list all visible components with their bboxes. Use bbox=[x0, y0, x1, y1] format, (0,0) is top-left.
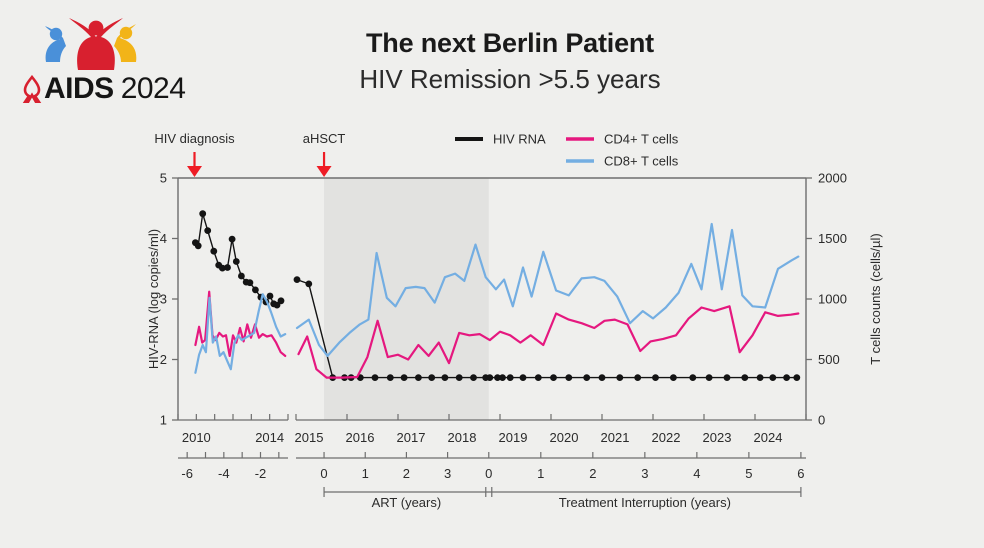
annotation-label: HIV diagnosis bbox=[154, 131, 235, 146]
series-point-hiv-rna bbox=[670, 374, 677, 381]
series-point-hiv-rna bbox=[652, 374, 659, 381]
series-point-hiv-rna bbox=[233, 258, 240, 265]
y-axis-right-tick-label: 2000 bbox=[818, 171, 847, 186]
x-axis-year-tick-label: 2015 bbox=[295, 430, 324, 445]
series-point-hiv-rna bbox=[229, 236, 236, 243]
series-point-hiv-rna bbox=[428, 374, 435, 381]
x-axis-year-tick-label: 2021 bbox=[601, 430, 630, 445]
y-axis-right-tick-label: 1000 bbox=[818, 292, 847, 307]
series-point-hiv-rna bbox=[470, 374, 477, 381]
down-arrow-icon bbox=[187, 166, 202, 177]
series-point-hiv-rna bbox=[689, 374, 696, 381]
annotation-label: aHSCT bbox=[303, 131, 346, 146]
x-axis-year-tick-label: 2010 bbox=[182, 430, 211, 445]
art-axis-tick-label: 3 bbox=[444, 466, 451, 481]
series-point-hiv-rna bbox=[278, 297, 285, 304]
y-axis-left-tick-label: 1 bbox=[160, 413, 167, 428]
interruption-axis-tick-label: 1 bbox=[537, 466, 544, 481]
x-axis-year-tick-label: 2023 bbox=[703, 430, 732, 445]
series-point-hiv-rna bbox=[267, 293, 274, 300]
series-point-hiv-rna bbox=[706, 374, 713, 381]
series-point-hiv-rna bbox=[401, 374, 408, 381]
series-point-hiv-rna bbox=[741, 374, 748, 381]
series-point-hiv-rna bbox=[520, 374, 527, 381]
series-point-hiv-rna bbox=[195, 242, 202, 249]
art-axis-tick-label: 0 bbox=[320, 466, 327, 481]
series-point-hiv-rna bbox=[634, 374, 641, 381]
series-point-hiv-rna bbox=[535, 374, 542, 381]
interruption-axis-tick-label: 6 bbox=[797, 466, 804, 481]
legend-label-cd4: CD4+ T cells bbox=[604, 132, 679, 147]
y-axis-right-title: T cells counts (cells/µl) bbox=[868, 233, 883, 365]
interruption-axis-tick-label: 0 bbox=[485, 466, 492, 481]
series-point-hiv-rna bbox=[387, 374, 394, 381]
y-axis-left-title: HIV-RNA (log copies/ml) bbox=[146, 229, 161, 369]
hiv-remission-chart: 12345 HIV-RNA (log copies/ml) 0500100015… bbox=[0, 0, 984, 548]
series-point-hiv-rna bbox=[442, 374, 449, 381]
interruption-axis-tick-label: 4 bbox=[693, 466, 700, 481]
series-point-hiv-rna bbox=[486, 374, 493, 381]
series-point-hiv-rna bbox=[724, 374, 731, 381]
series-point-hiv-rna bbox=[793, 374, 800, 381]
series-point-hiv-rna bbox=[583, 374, 590, 381]
series-point-hiv-rna bbox=[616, 374, 623, 381]
legend-label-cd8: CD8+ T cells bbox=[604, 154, 679, 169]
series-point-hiv-rna bbox=[565, 374, 572, 381]
series-point-hiv-rna bbox=[372, 374, 379, 381]
series-point-hiv-rna bbox=[456, 374, 463, 381]
series-point-hiv-rna bbox=[507, 374, 514, 381]
x-axis-year-tick-label: 2019 bbox=[499, 430, 528, 445]
x-axis-year-tick-label: 2017 bbox=[397, 430, 426, 445]
interruption-axis-title: Treatment Interruption (years) bbox=[559, 495, 731, 510]
interruption-axis-tick-label: 3 bbox=[641, 466, 648, 481]
x-axis-year-tick-label: 2014 bbox=[255, 430, 284, 445]
series-point-hiv-rna bbox=[599, 374, 606, 381]
x-axes-group: 20102014-6-4-220152016201720182019202020… bbox=[178, 414, 806, 510]
series-point-hiv-rna bbox=[199, 210, 206, 217]
series-point-hiv-rna bbox=[550, 374, 557, 381]
series-point-hiv-rna bbox=[305, 281, 312, 288]
series-point-hiv-rna bbox=[783, 374, 790, 381]
series-point-hiv-rna bbox=[210, 248, 217, 255]
y-axis-left-ticks: 12345 bbox=[160, 171, 178, 428]
annotations-layer: HIV diagnosisaHSCT bbox=[154, 131, 345, 177]
art-period-shading bbox=[324, 178, 489, 420]
x-axis-year-tick-label: 2024 bbox=[754, 430, 783, 445]
x-axis-year-tick-label: 2020 bbox=[550, 430, 579, 445]
x-axis-year-tick-label: 2016 bbox=[346, 430, 375, 445]
series-point-hiv-rna bbox=[252, 287, 259, 294]
series-point-hiv-rna bbox=[247, 279, 254, 286]
y-axis-left-tick-label: 5 bbox=[160, 171, 167, 186]
series-point-hiv-rna bbox=[204, 227, 211, 234]
interruption-axis-tick-label: 2 bbox=[589, 466, 596, 481]
series-point-hiv-rna bbox=[499, 374, 506, 381]
art-axis-title: ART (years) bbox=[372, 495, 442, 510]
y-axis-right-tick-label: 500 bbox=[818, 352, 840, 367]
x-axis-year-tick-label: 2018 bbox=[448, 430, 477, 445]
series-point-hiv-rna bbox=[294, 276, 301, 283]
series-point-hiv-rna bbox=[757, 374, 764, 381]
chart-legend: HIV RNACD4+ T cellsCD8+ T cells bbox=[455, 132, 679, 169]
series-point-hiv-rna bbox=[769, 374, 776, 381]
series-point-hiv-rna bbox=[224, 264, 231, 271]
y-axis-right-tick-label: 1500 bbox=[818, 231, 847, 246]
down-arrow-icon bbox=[317, 166, 332, 177]
data-series-layer bbox=[192, 210, 800, 381]
series-point-hiv-rna bbox=[415, 374, 422, 381]
art-axis-tick-label: 2 bbox=[403, 466, 410, 481]
y-axis-right-tick-label: 0 bbox=[818, 413, 825, 428]
art-axis-tick-label: 1 bbox=[362, 466, 369, 481]
x-axis-year-tick-label: 2022 bbox=[652, 430, 681, 445]
x-axis-relative-tick-label: -6 bbox=[181, 466, 193, 481]
series-point-hiv-rna bbox=[238, 273, 245, 280]
x-axis-relative-tick-label: -2 bbox=[255, 466, 267, 481]
y-axis-right-ticks: 0500100015002000 bbox=[806, 171, 847, 428]
interruption-axis-tick-label: 5 bbox=[745, 466, 752, 481]
x-axis-relative-tick-label: -4 bbox=[218, 466, 230, 481]
legend-label-hiv-rna: HIV RNA bbox=[493, 132, 546, 147]
